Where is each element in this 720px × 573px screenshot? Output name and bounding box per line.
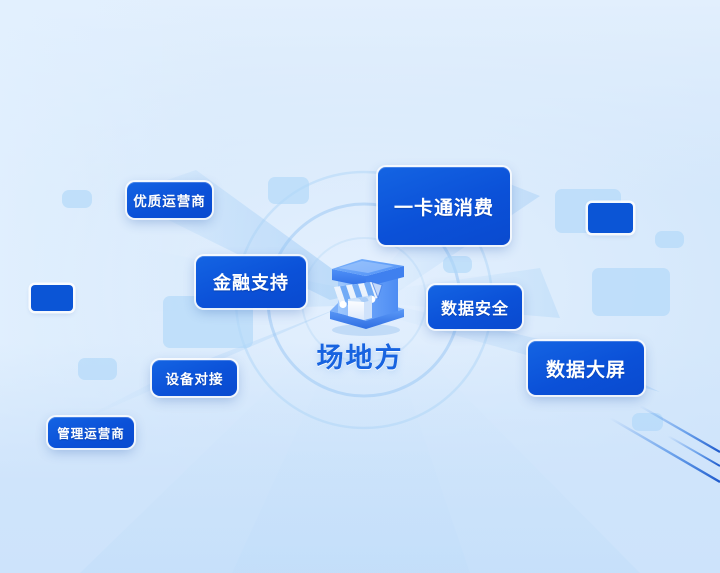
center-shop-icon-wrapper [312,241,416,337]
node-chip-label: 优质运营商 [133,190,206,210]
node-chip-label: 一卡通消费 [394,193,494,220]
node-chip-youzhi[interactable]: 优质运营商 [127,182,212,218]
deco-rect-solid-1 [31,285,73,311]
node-chip-jinrong[interactable]: 金融支持 [196,256,306,308]
node-chip-label: 数据大屏 [546,355,626,382]
illustration-canvas: 场地方 一卡通消费 金融支持 优质运营商 设备对接 管理运营商 数据安全 数据大… [0,0,720,573]
node-chip-guanli[interactable]: 管理运营商 [48,417,134,448]
node-chip-dapingmu[interactable]: 数据大屏 [528,341,644,395]
deco-rect-soft-7 [592,268,670,316]
deco-rect-soft-3 [268,177,309,204]
scene-title: 场地方生态结构图 [0,21,1,22]
deco-rect-soft-4 [555,189,621,233]
deco-rect-soft-5 [655,231,684,248]
node-chip-label: 数据安全 [441,295,509,319]
node-chip-label: 设备对接 [166,368,224,388]
node-chip-yikatong[interactable]: 一卡通消费 [378,167,510,245]
deco-rect-soft-8 [632,413,663,431]
node-chip-label: 管理运营商 [57,423,125,442]
deco-rect-solid-2 [588,203,633,233]
node-chip-anquan[interactable]: 数据安全 [428,285,522,329]
node-chip-shebei[interactable]: 设备对接 [152,360,237,396]
deco-rect-soft-6 [443,256,472,273]
deco-rect-soft-9 [62,190,92,208]
node-chip-label: 金融支持 [213,269,289,295]
shop-storefront-icon [312,241,416,337]
